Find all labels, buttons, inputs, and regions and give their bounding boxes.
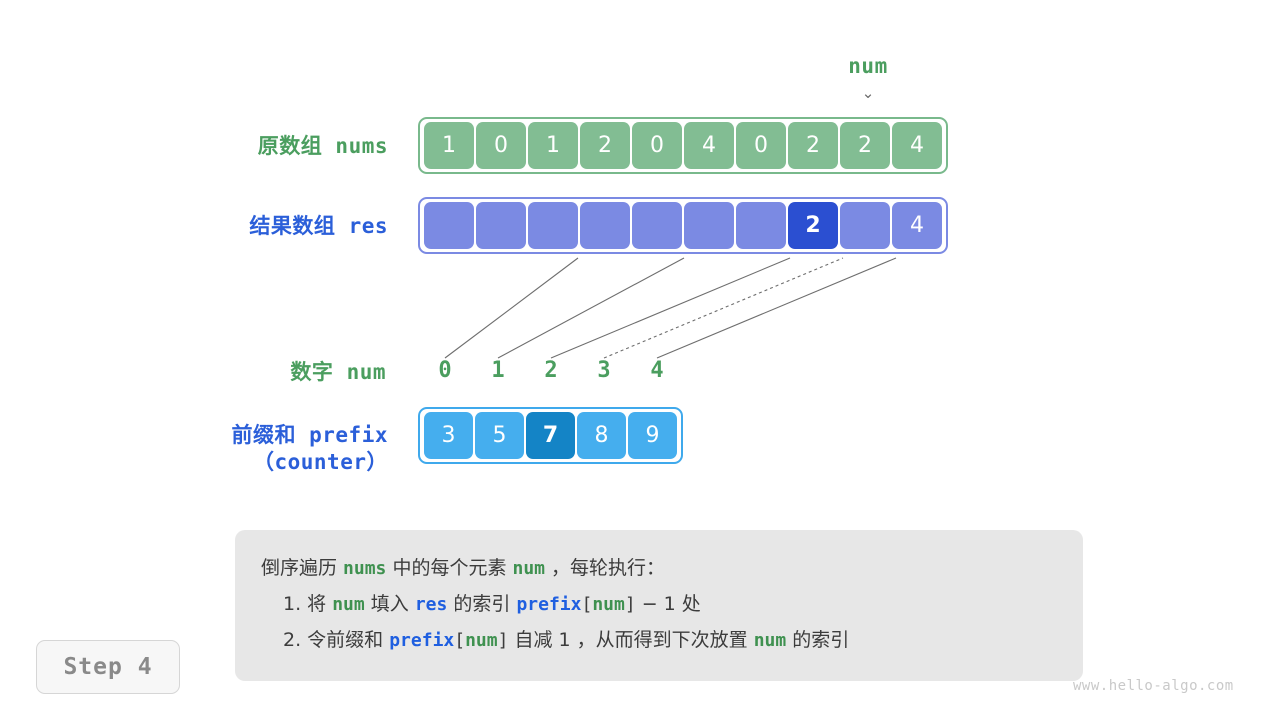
nums-cell: 2 [580,122,630,169]
caption-line-0: 倒序遍历 nums 中的每个元素 num ，每轮执行： [261,550,1057,586]
prefix-cell: 7 [526,412,575,459]
num-digit: 3 [584,360,624,382]
nums-row-label: 原数组 nums [120,133,388,160]
down-arrow-icon: ⌄ [808,86,928,101]
diagram-canvas: num ⌄ 原数组 nums 结果数组 res 数字 num 前缀和 prefi… [0,0,1280,720]
caption-text: 的索引 [786,629,849,651]
code-bracket-close: ] [498,630,509,651]
num-pointer: num ⌄ [808,56,928,101]
prefix-array: 35789 [418,407,683,464]
num-row-label: 数字 num [120,359,386,386]
code-prefix: prefix [389,630,454,651]
code-num: num [465,630,498,651]
prefix-row-label: 前缀和 prefix （counter） [100,422,388,476]
caption-text: 自减 1 ，从而得到下次放置 [508,629,753,651]
res-cell: 4 [892,202,942,249]
nums-cell: 1 [424,122,474,169]
code-bracket-close: ] [625,594,636,615]
res-cell: 2 [788,202,838,249]
num-digit: 1 [478,360,518,382]
code-num: num [332,594,365,615]
res-row-label: 结果数组 res [120,213,388,240]
caption-box: 倒序遍历 nums 中的每个元素 num ，每轮执行： 1. 将 num 填入 … [235,530,1083,681]
res-cell [580,202,630,249]
num-digit: 0 [425,360,465,382]
res-cell [840,202,890,249]
res-cell [476,202,526,249]
caption-text: − 1 处 [636,593,701,615]
prefix-cell: 8 [577,412,626,459]
caption-line-1: 1. 将 num 填入 res 的索引 prefix[num] − 1 处 [261,586,1057,622]
num-pointer-label: num [808,56,928,77]
num-digit: 4 [637,360,677,382]
res-cell [684,202,734,249]
code-bracket-open: [ [581,594,592,615]
res-array: 24 [418,197,948,254]
step-badge: Step 4 [36,640,180,694]
code-num: num [592,594,625,615]
code-res: res [415,594,448,615]
nums-cell: 0 [632,122,682,169]
nums-array: 1012040224 [418,117,948,174]
watermark: www.hello-algo.com [1073,678,1234,694]
prefix-cell: 9 [628,412,677,459]
caption-text: 中的每个元素 [386,557,512,579]
caption-text: 2. 令前缀和 [283,629,389,651]
prefix-cell: 3 [424,412,473,459]
res-cell [736,202,786,249]
res-cell [424,202,474,249]
nums-cell: 2 [788,122,838,169]
caption-text: ，每轮执行： [545,557,665,579]
code-prefix: prefix [516,594,581,615]
code-nums: nums [343,558,386,579]
nums-cell: 2 [840,122,890,169]
code-bracket-open: [ [454,630,465,651]
caption-text: 的索引 [447,593,516,615]
nums-cell: 0 [476,122,526,169]
code-num: num [513,558,546,579]
code-num: num [754,630,787,651]
nums-cell: 4 [684,122,734,169]
caption-text: 倒序遍历 [261,557,343,579]
caption-line-2: 2. 令前缀和 prefix[num] 自减 1 ，从而得到下次放置 num 的… [261,622,1057,658]
nums-cell: 4 [892,122,942,169]
num-digit: 2 [531,360,571,382]
res-cell [528,202,578,249]
nums-cell: 1 [528,122,578,169]
prefix-cell: 5 [475,412,524,459]
nums-cell: 0 [736,122,786,169]
res-cell [632,202,682,249]
caption-text: 1. 将 [283,593,332,615]
caption-text: 填入 [365,593,415,615]
